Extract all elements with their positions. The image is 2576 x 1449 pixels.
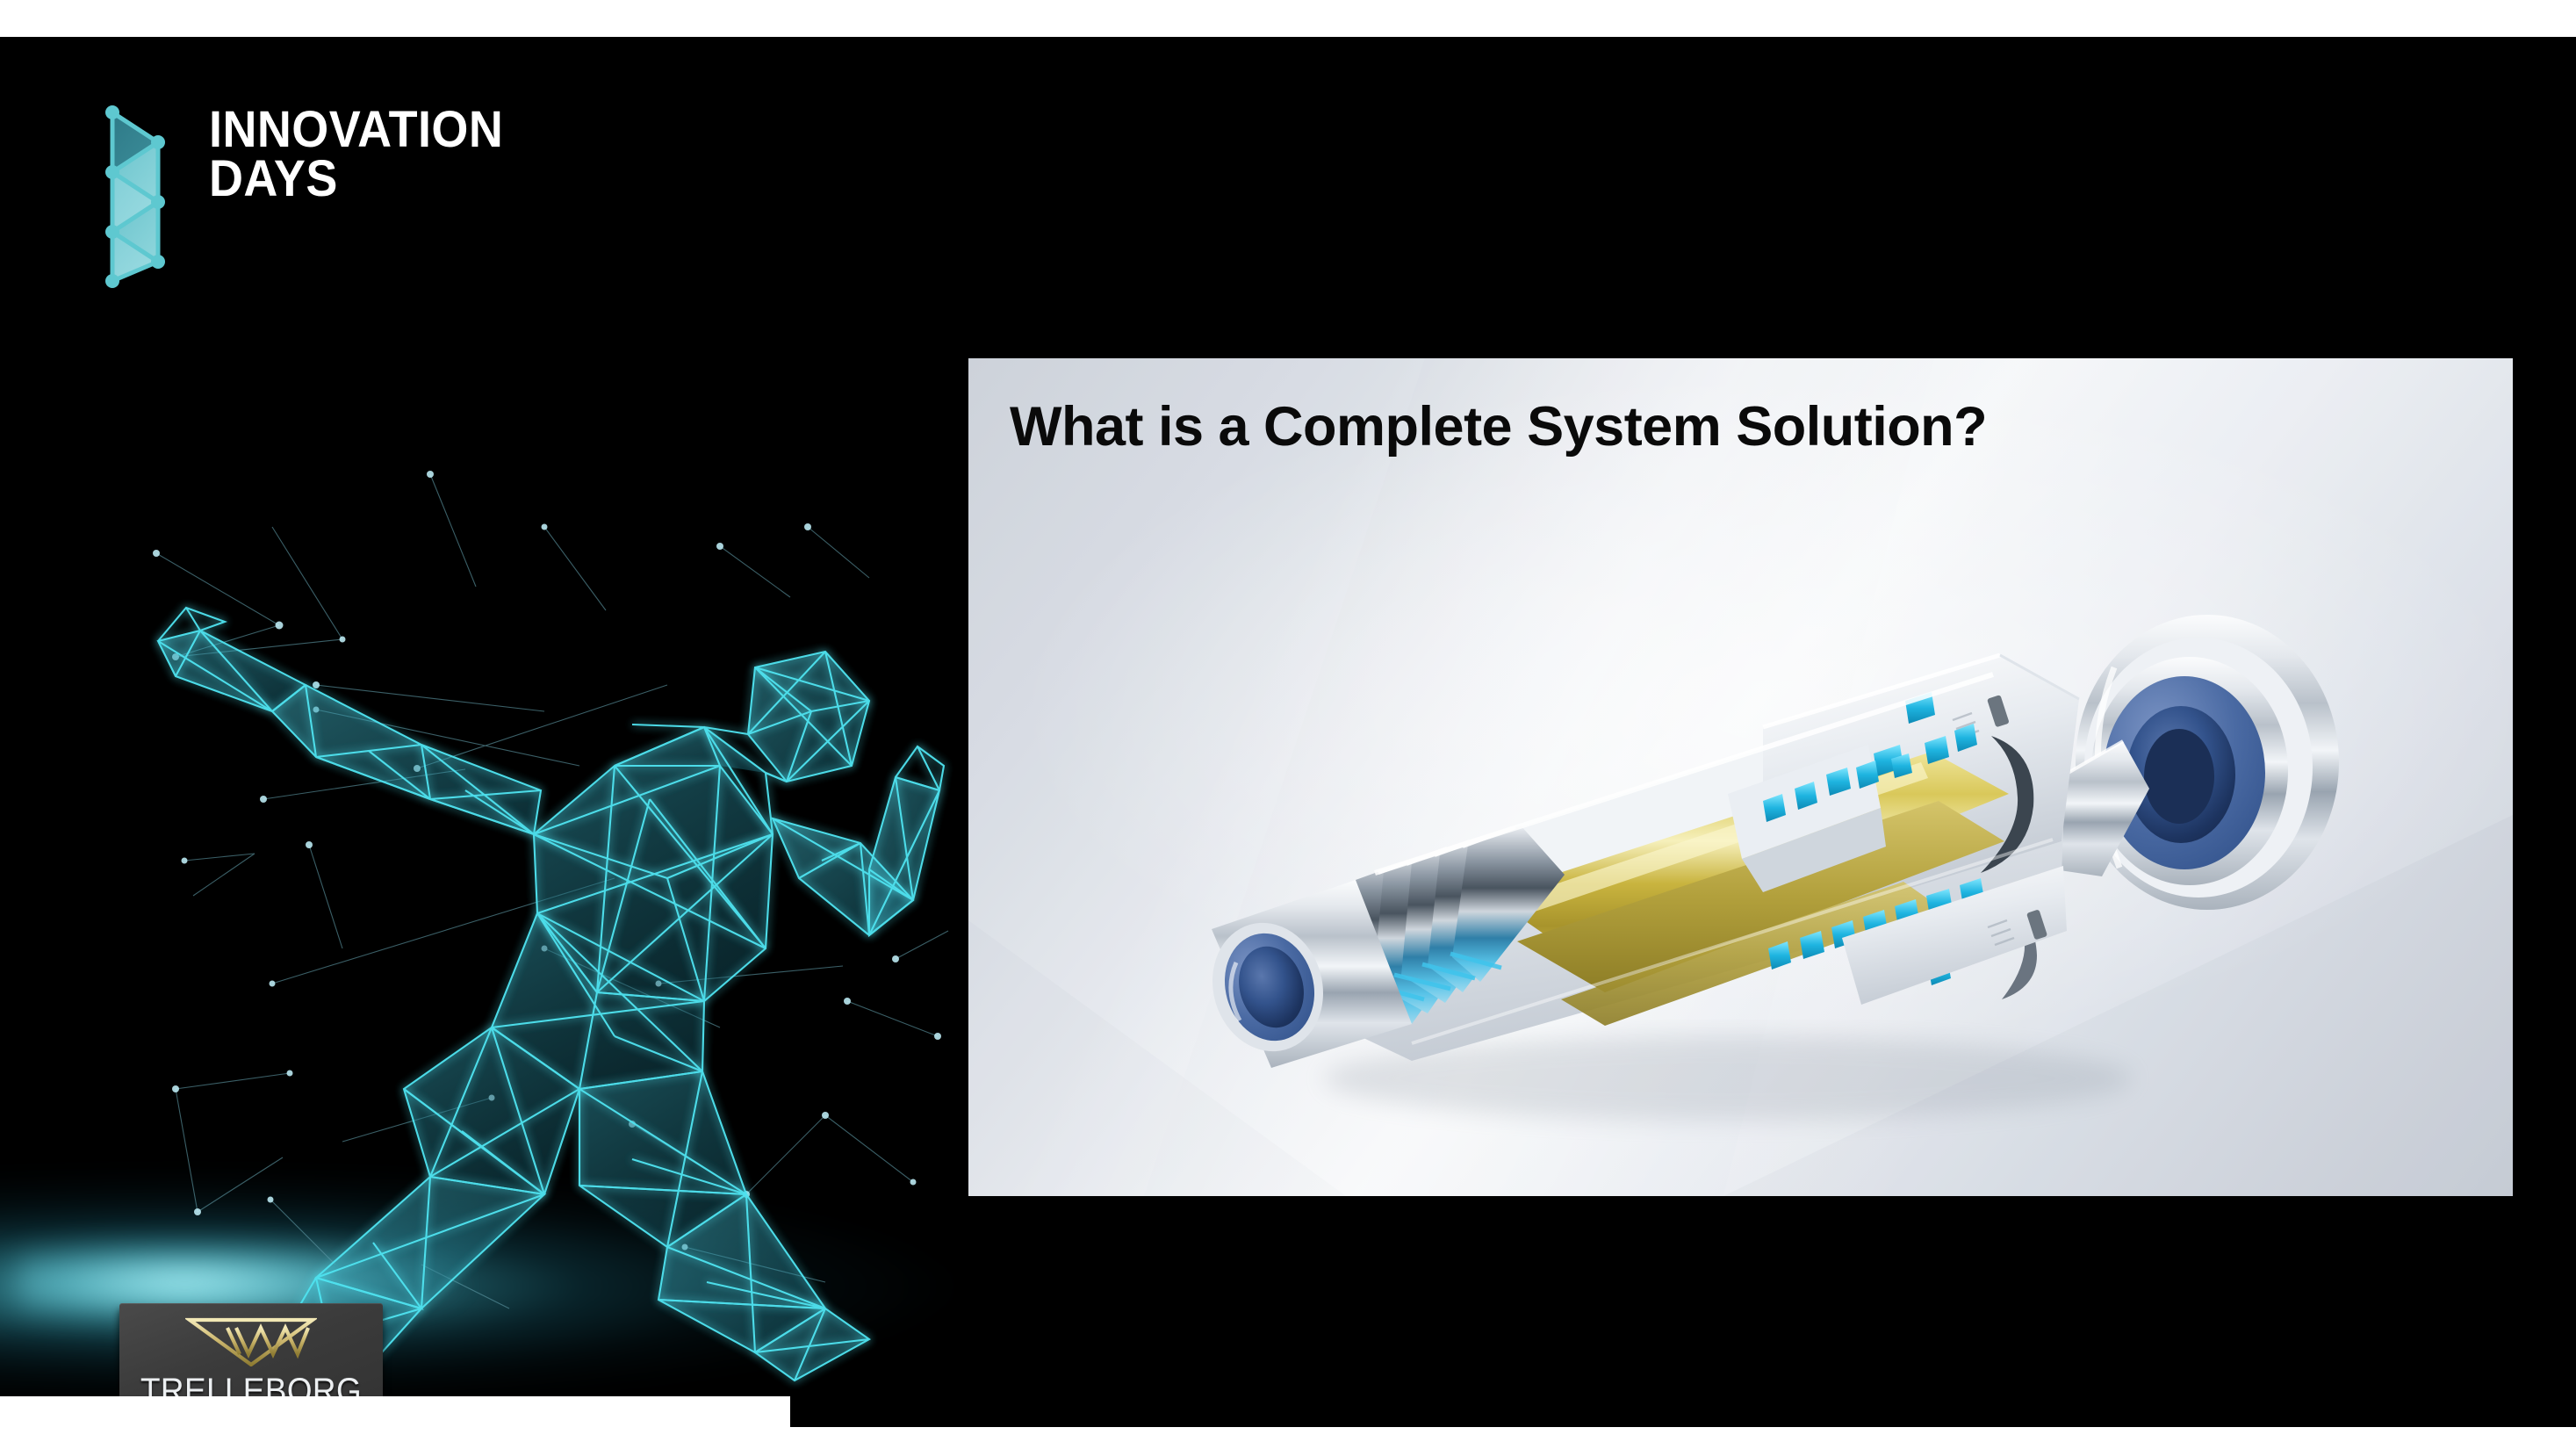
logo-line-days: DAYS [209,155,503,204]
innovation-days-zigzag-mark [104,104,167,290]
slide-title: What is a Complete System Solution? [1010,395,1987,458]
logo-line-innovation: INNOVATION [209,105,503,155]
innovation-days-wordmark: INNOVATION DAYS [209,105,526,205]
innovation-days-logo: INNOVATION DAYS [104,104,526,290]
cylinder-render [1148,587,2395,1149]
trelleborg-tw-emblem [185,1316,317,1366]
hydraulic-cylinder-cutaway [1148,587,2395,1149]
top-white-band [0,0,2576,37]
bottom-white-band [0,1427,2576,1449]
slide-canvas: INNOVATION DAYS [0,0,2576,1449]
presentation-slide-panel[interactable]: What is a Complete System Solution? [968,358,2513,1196]
